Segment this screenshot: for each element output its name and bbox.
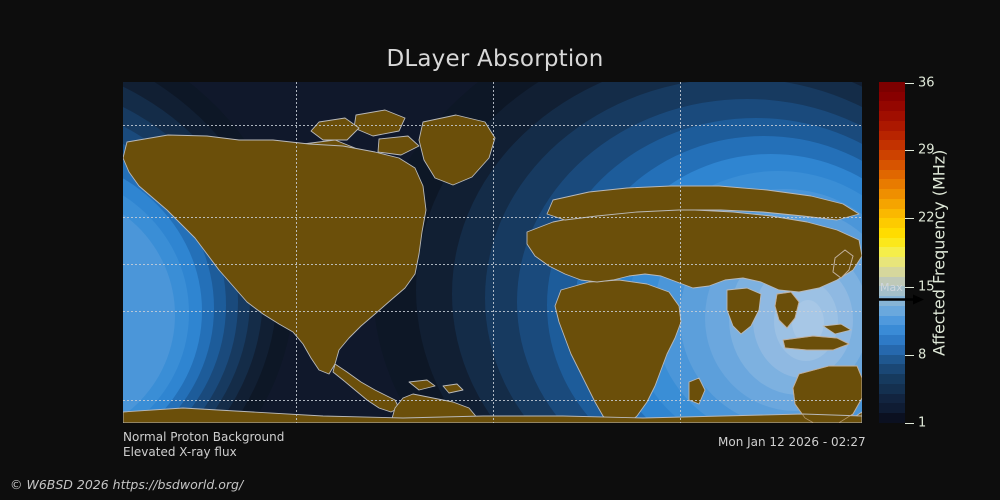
colorbar-band [879,335,905,345]
colorbar-band [879,82,905,92]
map-canvas [123,82,862,423]
colorbar-tick-label: 1 [918,416,926,429]
colorbar-band [879,384,905,394]
colorbar-band [879,247,905,257]
timestamp: Mon Jan 12 2026 - 02:27 [718,436,866,448]
colorbar-band [879,131,905,141]
colorbar-band [879,92,905,102]
colorbar-band [879,267,905,277]
colorbar-band [879,257,905,267]
colorbar[interactable]: 1815222936 [879,82,905,423]
colorbar-band [879,355,905,365]
page-title: DLayer Absorption [0,48,990,71]
max-arrow-icon [879,293,925,306]
colorbar-max-marker: Max [879,282,925,306]
colorbar-axis-label: Affected Frequency (MHz) [928,82,950,423]
colorbar-band [879,403,905,413]
colorbar-band [879,374,905,384]
colorbar-band [879,189,905,199]
colorbar-tick [905,150,914,151]
colorbar-band [879,199,905,209]
colorbar-band [879,170,905,180]
colorbar-band [879,111,905,121]
colorbar-band [879,140,905,150]
colorbar-band [879,209,905,219]
colorbar-band [879,413,905,423]
max-label: Max [880,282,903,293]
status-line-xray: Elevated X-ray flux [123,446,237,458]
colorbar-band [879,101,905,111]
colorbar-band [879,160,905,170]
world-map[interactable] [123,82,862,423]
colorbar-band [879,150,905,160]
colorbar-band [879,345,905,355]
colorbar-band [879,306,905,316]
colorbar-band [879,179,905,189]
colorbar-band [879,238,905,248]
colorbar-tick [905,355,914,356]
dlayer-absorption-map-app: DLayer Absorption [0,0,1000,500]
colorbar-band [879,121,905,131]
colorbar-band [879,316,905,326]
colorbar-band [879,218,905,228]
copyright-notice: © W6BSD 2026 https://bsdworld.org/ [10,479,243,492]
colorbar-tick [905,83,914,84]
colorbar-band [879,364,905,374]
colorbar-tick-label: 8 [918,348,926,361]
colorbar-tick [905,423,914,424]
colorbar-band [879,325,905,335]
status-line-proton: Normal Proton Background [123,431,284,443]
colorbar-tick [905,218,914,219]
colorbar-band [879,394,905,404]
colorbar-band [879,228,905,238]
